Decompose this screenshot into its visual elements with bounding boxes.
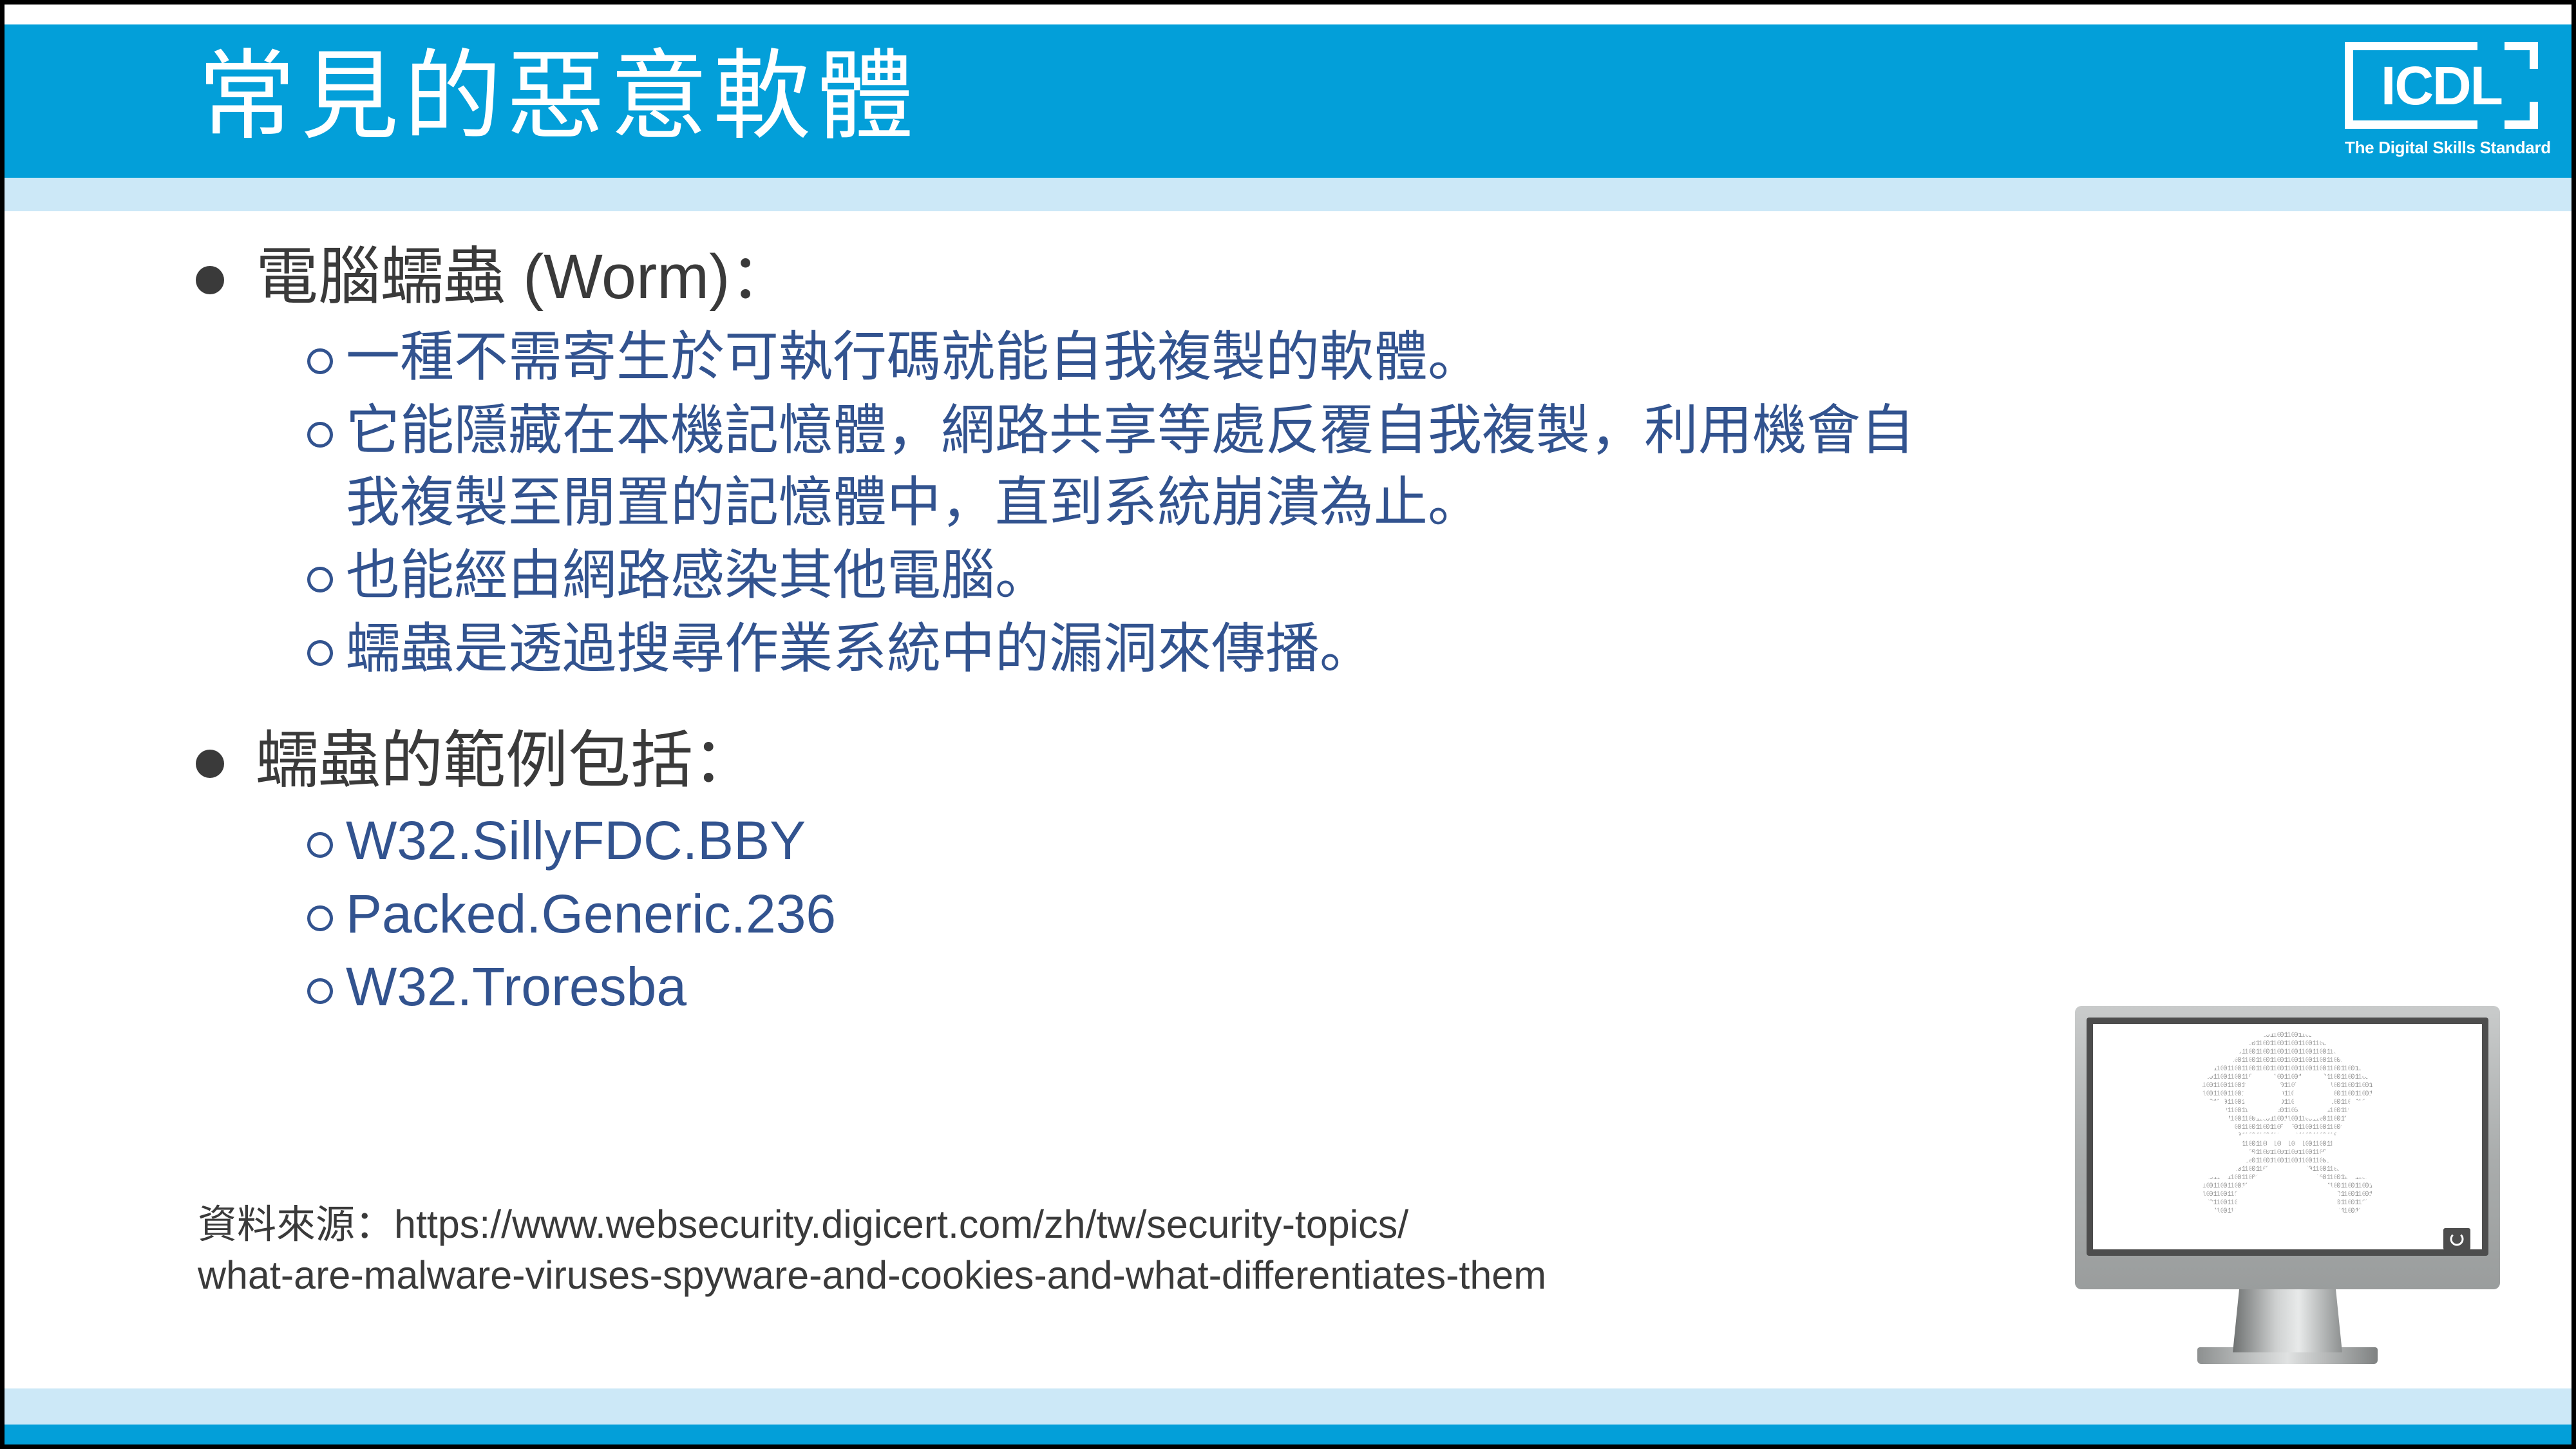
logo-frame-top-left bbox=[2345, 42, 2477, 50]
hollow-bullet-icon bbox=[307, 832, 333, 858]
hollow-bullet-icon bbox=[307, 905, 333, 931]
sub-bullet-item: W32.SillyFDC.BBY bbox=[5, 805, 2033, 877]
header-accent-underband bbox=[5, 178, 2571, 211]
bullet-heading-worm: 電腦蠕蟲 (Worm)： bbox=[256, 241, 792, 312]
icdl-logo: ICDL The Digital Skills Standard bbox=[2345, 42, 2538, 161]
sub-bullet-text: 也能經由網路感染其他電腦。 bbox=[346, 545, 1049, 605]
source-url-part-1: https://www.websecurity.digicert.com/zh/… bbox=[394, 1202, 1408, 1246]
logo-frame-right-bottom bbox=[2530, 102, 2538, 129]
footer-accent-band bbox=[5, 1388, 2571, 1425]
source-citation: 資料來源：https://www.websecurity.digicert.co… bbox=[198, 1199, 2001, 1302]
monitor-stand bbox=[2233, 1288, 2342, 1352]
bullet-item-worm-examples: 蠕蟲的範例包括： bbox=[5, 720, 2033, 801]
hollow-bullet-icon bbox=[307, 348, 333, 374]
logo-bracket-frame: ICDL bbox=[2345, 42, 2538, 129]
filled-bullet-icon bbox=[196, 266, 224, 294]
hollow-bullet-icon bbox=[307, 640, 333, 666]
source-label: 資料來源： bbox=[198, 1202, 394, 1246]
malware-monitor-illustration: 01 10 bbox=[2075, 1006, 2500, 1367]
source-line-1: 資料來源：https://www.websecurity.digicert.co… bbox=[198, 1199, 2001, 1250]
binary-skull-and-crossbones-icon: 01 10 bbox=[2152, 1030, 2423, 1243]
logo-tagline: The Digital Skills Standard bbox=[2345, 138, 2538, 158]
logo-frame-right-top bbox=[2530, 42, 2538, 69]
page-title: 常見的惡意軟體 bbox=[198, 35, 919, 158]
source-url-part-2: what-are-malware-viruses-spyware-and-coo… bbox=[198, 1250, 2001, 1301]
section-spacer bbox=[5, 687, 2033, 720]
logo-wordmark: ICDL bbox=[2381, 59, 2502, 113]
sub-bullet-item: Packed.Generic.236 bbox=[5, 878, 2033, 951]
footer-band bbox=[5, 1425, 2571, 1444]
hollow-bullet-icon bbox=[307, 422, 333, 448]
monitor-power-button[interactable] bbox=[2443, 1228, 2470, 1250]
hollow-bullet-icon bbox=[307, 978, 333, 1004]
sub-bullet-item: W32.Troresba bbox=[5, 951, 2033, 1023]
filled-bullet-icon bbox=[196, 750, 224, 778]
monitor-screen: 01 10 bbox=[2093, 1024, 2482, 1249]
presentation-slide: 常見的惡意軟體 ICDL The Digital Skills Standard… bbox=[0, 0, 2576, 1449]
sub-bullet-text: 蠕蟲是透過搜尋作業系統中的漏洞來傳播。 bbox=[346, 618, 1374, 679]
sub-bullet-item: 蠕蟲是透過搜尋作業系統中的漏洞來傳播。 bbox=[5, 613, 2033, 685]
logo-frame-left bbox=[2345, 42, 2353, 129]
hollow-bullet-icon bbox=[307, 567, 333, 592]
monitor-screen-frame: 01 10 bbox=[2087, 1018, 2488, 1256]
logo-frame-bottom-left bbox=[2345, 120, 2477, 129]
sub-bullet-item: 一種不需寄生於可執行碼就能自我複製的軟體。 bbox=[5, 321, 2033, 393]
bullet-item-worm: 電腦蠕蟲 (Worm)： bbox=[5, 236, 2033, 317]
sub-bullet-text: W32.Troresba bbox=[346, 956, 687, 1017]
sub-bullet-text: 它能隱藏在本機記憶體，網路共享等處反覆自我複製，利用機會自我複製至閒置的記憶體中… bbox=[346, 400, 1915, 533]
sub-bullet-item: 它能隱藏在本機記憶體，網路共享等處反覆自我複製，利用機會自我複製至閒置的記憶體中… bbox=[5, 395, 2033, 538]
sub-bullet-text: Packed.Generic.236 bbox=[346, 884, 836, 944]
monitor-bezel: 01 10 bbox=[2075, 1006, 2500, 1289]
sub-bullet-text: W32.SillyFDC.BBY bbox=[346, 810, 806, 871]
sub-bullet-text: 一種不需寄生於可執行碼就能自我複製的軟體。 bbox=[346, 327, 1482, 387]
sub-bullet-item: 也能經由網路感染其他電腦。 bbox=[5, 540, 2033, 612]
bullet-heading-examples: 蠕蟲的範例包括： bbox=[256, 725, 755, 795]
slide-body: 電腦蠕蟲 (Worm)： 一種不需寄生於可執行碼就能自我複製的軟體。 它能隱藏在… bbox=[5, 236, 2033, 1025]
